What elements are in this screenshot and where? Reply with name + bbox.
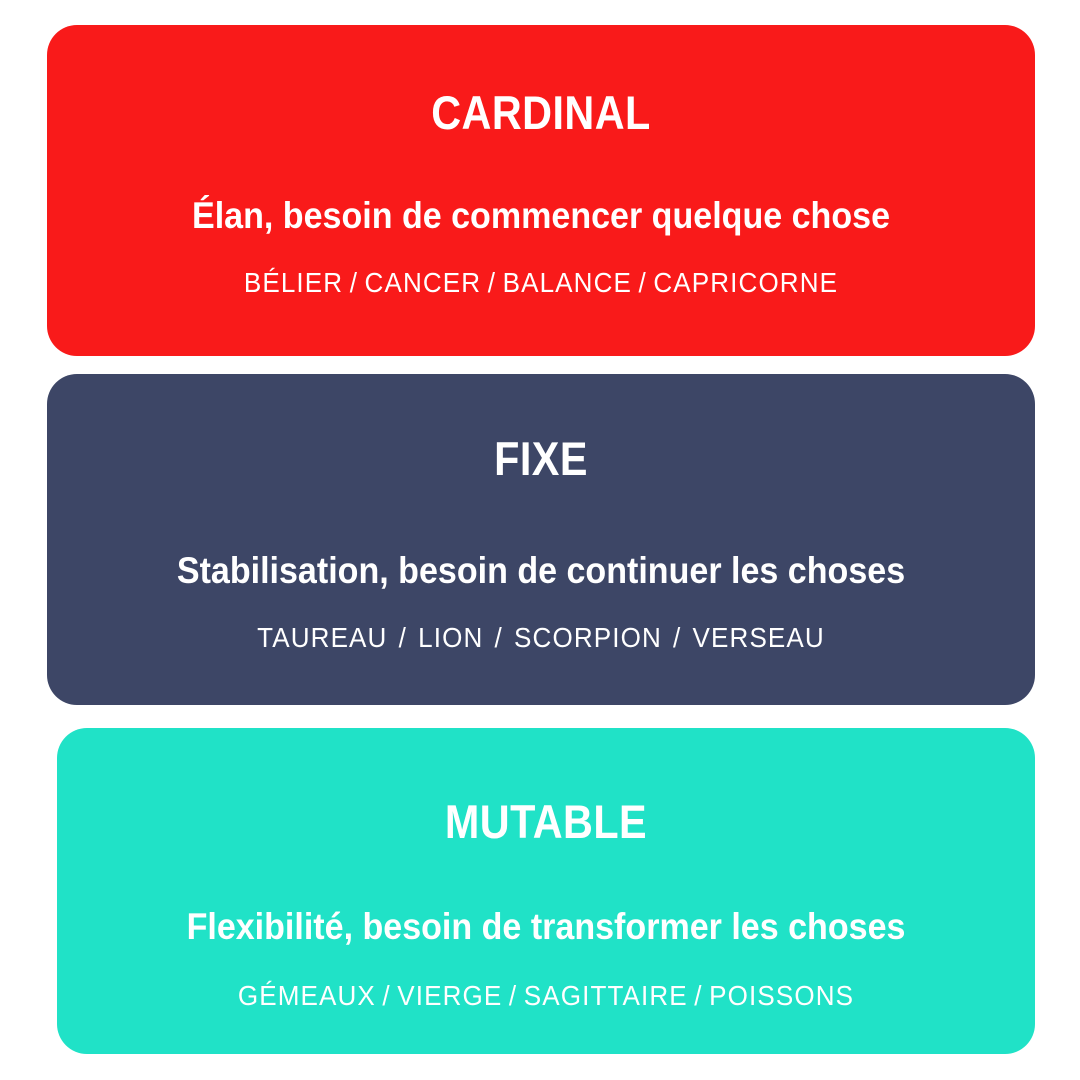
sign-label: CANCER: [365, 267, 482, 298]
card-signs-cardinal: BÉLIER/CANCER/BALANCE/CAPRICORNE: [82, 269, 1001, 297]
card-title-mutable: MUTABLE: [116, 798, 977, 845]
modality-card-mutable: MUTABLE Flexibilité, besoin de transform…: [57, 728, 1035, 1054]
card-title-cardinal: CARDINAL: [106, 89, 975, 136]
sign-label: SAGITTAIRE: [524, 980, 688, 1011]
sign-label: POISSONS: [709, 980, 854, 1011]
modality-card-fixe: FIXE Stabilisation, besoin de continuer …: [47, 374, 1035, 705]
sign-separator: /: [662, 624, 693, 652]
sign-separator: /: [688, 982, 709, 1010]
sign-label: TAUREAU: [257, 622, 387, 653]
sign-label: BÉLIER: [244, 267, 343, 298]
sign-label: LION: [418, 622, 483, 653]
card-description-mutable: Flexibilité, besoin de transformer les c…: [96, 908, 996, 945]
card-signs-mutable: GÉMEAUX/VIERGE/SAGITTAIRE/POISSONS: [91, 982, 1001, 1010]
card-title-fixe: FIXE: [106, 435, 975, 482]
sign-label: CAPRICORNE: [653, 267, 838, 298]
sign-label: SCORPION: [514, 622, 662, 653]
card-description-cardinal: Élan, besoin de commencer quelque chose: [87, 197, 996, 234]
zodiac-modalities-infographic: CARDINAL Élan, besoin de commencer quelq…: [0, 0, 1080, 1080]
sign-label: VERSEAU: [693, 622, 825, 653]
sign-separator: /: [483, 624, 514, 652]
sign-label: GÉMEAUX: [238, 980, 376, 1011]
sign-label: VIERGE: [397, 980, 502, 1011]
sign-separator: /: [502, 982, 523, 1010]
sign-separator: /: [376, 982, 397, 1010]
sign-separator: /: [632, 269, 653, 297]
modality-card-cardinal: CARDINAL Élan, besoin de commencer quelq…: [47, 25, 1035, 356]
card-signs-fixe: TAUREAU/LION/SCORPION/VERSEAU: [82, 624, 1001, 652]
sign-label: BALANCE: [503, 267, 632, 298]
sign-separator: /: [481, 269, 502, 297]
sign-separator: /: [387, 624, 418, 652]
sign-separator: /: [343, 269, 364, 297]
card-description-fixe: Stabilisation, besoin de continuer les c…: [87, 552, 996, 589]
